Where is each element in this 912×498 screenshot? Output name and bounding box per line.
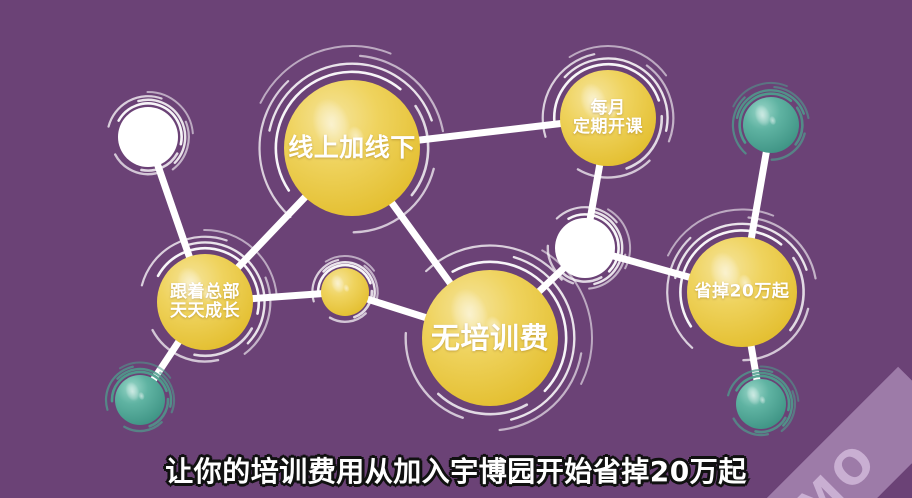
link-save-200k-to-teal-node-top-right <box>750 147 767 244</box>
node-body-teal-node-bottom-left <box>115 375 165 425</box>
node-body-save-200k <box>687 237 797 347</box>
node-teal-node-bottom-right[interactable] <box>736 379 786 429</box>
infographic-canvas: 线上加线下每月 定期开课跟着总部 天天成长无培训费省掉20万起 让你的培训费用从… <box>0 0 912 498</box>
link-small-yellow-node-to-no-training-fee <box>362 297 431 319</box>
network-graph <box>0 0 912 498</box>
node-white-node-center[interactable] <box>555 218 615 278</box>
node-body-white-node-center <box>555 218 615 278</box>
node-teal-node-bottom-left[interactable] <box>115 375 165 425</box>
node-teal-node-top-right[interactable] <box>743 97 799 153</box>
node-white-node-left[interactable] <box>118 107 178 167</box>
node-body-white-node-left <box>118 107 178 167</box>
node-body-teal-node-top-right <box>743 97 799 153</box>
link-grow-with-hq-to-online-offline <box>234 193 309 272</box>
node-grow-with-hq[interactable] <box>157 254 253 350</box>
node-body-teal-node-bottom-right <box>736 379 786 429</box>
node-no-training-fee[interactable] <box>422 270 558 406</box>
node-monthly-classes[interactable] <box>560 70 656 166</box>
node-body-no-training-fee <box>422 270 558 406</box>
node-body-monthly-classes <box>560 70 656 166</box>
node-body-online-offline <box>284 80 420 216</box>
link-white-node-left-to-grow-with-hq <box>156 160 191 263</box>
node-body-grow-with-hq <box>157 254 253 350</box>
node-online-offline[interactable] <box>284 80 420 216</box>
link-online-offline-to-no-training-fee <box>388 198 453 288</box>
node-body-small-yellow-node <box>321 268 369 316</box>
node-small-yellow-node[interactable] <box>321 268 369 316</box>
node-save-200k[interactable] <box>687 237 797 347</box>
caption-text: 让你的培训费用从加入宇博园开始省掉20万起 <box>0 450 912 490</box>
